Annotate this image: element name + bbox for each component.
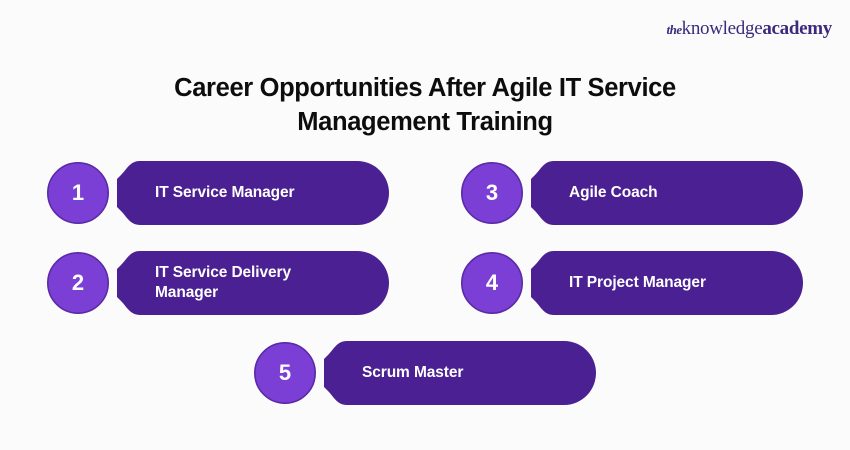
item-shape (47, 251, 389, 315)
list-item[interactable]: 4 IT Project Manager (461, 251, 803, 315)
item-shape (461, 161, 803, 225)
item-shape (461, 251, 803, 315)
item-shape (47, 161, 389, 225)
career-opportunities-list: 1 IT Service Manager 2 IT Service Delive… (0, 0, 850, 450)
list-item[interactable]: 3 Agile Coach (461, 161, 803, 225)
list-item[interactable]: 5 Scrum Master (254, 341, 596, 405)
list-item[interactable]: 2 IT Service Delivery Manager (47, 251, 389, 315)
item-shape (254, 341, 596, 405)
list-item[interactable]: 1 IT Service Manager (47, 161, 389, 225)
